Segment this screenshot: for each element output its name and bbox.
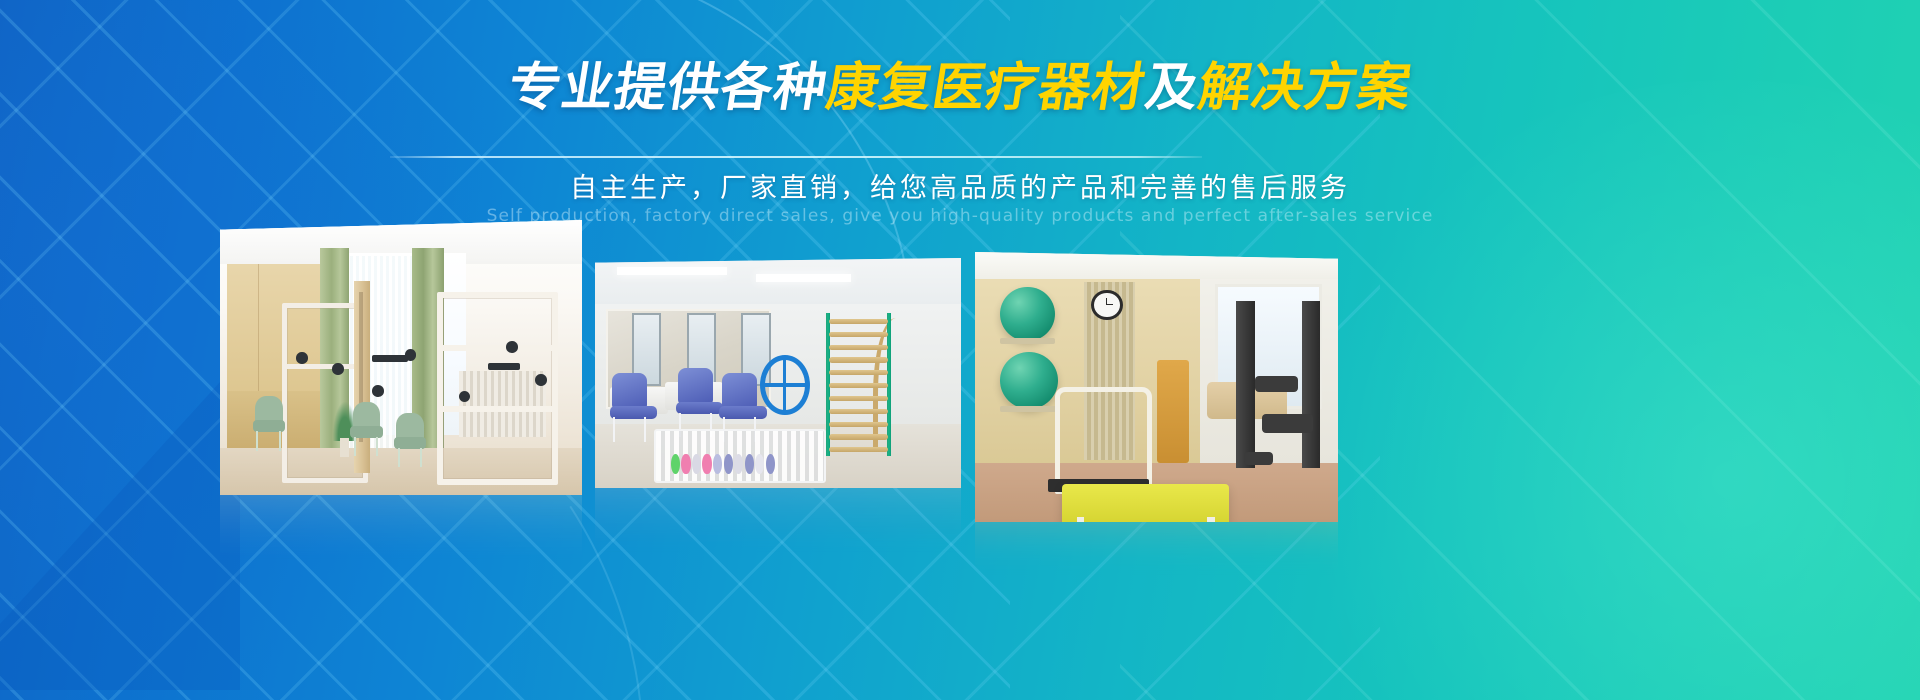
- photo-therapy-hall-blue-chairs: [595, 258, 961, 488]
- photo-reflection-2: [595, 488, 961, 558]
- photo-gym-room-exercise-balls: [975, 252, 1338, 522]
- photo-rehab-room-wooden-frames: [220, 220, 582, 495]
- photo-strip: [0, 0, 1920, 700]
- photo-reflection-3: [975, 522, 1338, 582]
- promo-banner: 专业提供各种康复医疗器材及解决方案 自主生产，厂家直销，给您高品质的产品和完善的…: [0, 0, 1920, 700]
- photo-reflection-1: [220, 495, 582, 565]
